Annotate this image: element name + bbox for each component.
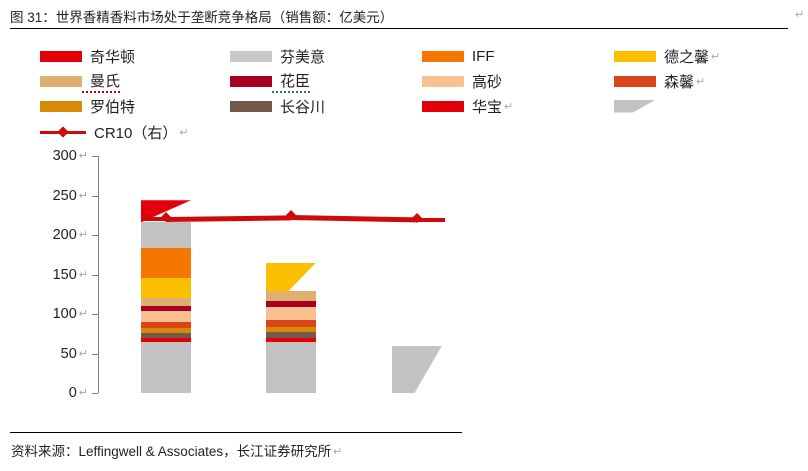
legend-label: 华宝 bbox=[464, 96, 502, 117]
color-swatch-icon bbox=[40, 76, 82, 87]
y-axis-tick-label: 100↵ bbox=[14, 306, 88, 322]
bar-segment[interactable] bbox=[266, 263, 316, 291]
legend-item-qihuadun[interactable]: 奇华顿 bbox=[40, 44, 135, 68]
plot-area bbox=[98, 156, 598, 393]
legend-label: 奇华顿 bbox=[82, 46, 135, 67]
y-axis-tick-label: 50↵ bbox=[14, 346, 88, 362]
bar-segment[interactable] bbox=[266, 301, 316, 307]
bar-segment[interactable] bbox=[392, 346, 442, 393]
cr10-line-segment bbox=[166, 215, 291, 221]
paragraph-mark-icon: ↵ bbox=[694, 75, 705, 88]
paragraph-mark-icon: ↵ bbox=[331, 446, 342, 458]
bar-segment[interactable] bbox=[266, 327, 316, 333]
bar-segment[interactable] bbox=[141, 278, 191, 299]
legend-row: 奇华顿 芬美意 IFF 德之馨 ↵ bbox=[40, 44, 780, 68]
stacked-bar[interactable] bbox=[141, 200, 191, 393]
legend-item-cr10[interactable]: CR10（右） ↵ bbox=[40, 120, 189, 144]
color-swatch-icon bbox=[230, 51, 272, 62]
legend-label: 高砂 bbox=[464, 71, 502, 92]
y-axis-tick-label: 300↵ bbox=[14, 148, 88, 164]
legend-item-fenmeiyi[interactable]: 芬美意 bbox=[230, 44, 325, 68]
bar-segment[interactable] bbox=[266, 291, 316, 300]
paragraph-mark-icon: ↵ bbox=[177, 126, 188, 139]
legend-item-huabao[interactable]: 华宝 ↵ bbox=[422, 94, 513, 118]
bar-segment[interactable] bbox=[266, 332, 316, 338]
bar-segment[interactable] bbox=[141, 248, 191, 278]
legend-item-changuchuan[interactable]: 长谷川 bbox=[230, 94, 325, 118]
legend-item-huachen[interactable]: 花臣 bbox=[230, 69, 310, 93]
bar-segment[interactable] bbox=[141, 333, 191, 338]
legend-label: 罗伯特 bbox=[82, 96, 135, 117]
line-marker-icon bbox=[40, 126, 86, 138]
cr10-line-segment bbox=[291, 215, 417, 222]
title-divider bbox=[10, 28, 788, 29]
legend-label: 芬美意 bbox=[272, 46, 325, 67]
chart-canvas: 0↵50↵100↵150↵200↵250↵300↵ bbox=[0, 146, 808, 406]
bar-segment[interactable] bbox=[141, 342, 191, 393]
legend-item-dezhixin[interactable]: 德之馨 ↵ bbox=[614, 44, 720, 68]
stacked-bar[interactable] bbox=[392, 346, 442, 393]
color-swatch-icon bbox=[230, 76, 272, 87]
legend-row: CR10（右） ↵ bbox=[40, 120, 780, 144]
y-axis-tick-label: 250↵ bbox=[14, 188, 88, 204]
stacked-bar[interactable] bbox=[266, 263, 316, 393]
legend-label: 长谷川 bbox=[272, 96, 325, 117]
bar-segment[interactable] bbox=[141, 222, 191, 247]
color-swatch-icon bbox=[422, 76, 464, 87]
legend-label: 花臣 bbox=[272, 70, 310, 93]
figure-title-block: 图 31：世界香精香料市场处于垄断竞争格局（销售额：亿美元） ↵ bbox=[0, 0, 808, 30]
y-axis-tick-label: 200↵ bbox=[14, 227, 88, 243]
bar-segment[interactable] bbox=[141, 338, 191, 342]
legend-row: 曼氏 花臣 高砂 森馨 ↵ bbox=[40, 69, 780, 93]
bar-segment[interactable] bbox=[141, 322, 191, 328]
color-swatch-icon bbox=[230, 101, 272, 112]
color-swatch-icon bbox=[40, 51, 82, 62]
legend-label: CR10（右） bbox=[86, 122, 177, 143]
bar-segment[interactable] bbox=[141, 311, 191, 322]
bar-segment[interactable] bbox=[266, 320, 316, 327]
color-swatch-icon bbox=[40, 101, 82, 112]
legend-label: IFF bbox=[464, 48, 495, 65]
color-swatch-icon bbox=[422, 101, 464, 112]
color-swatch-icon bbox=[422, 51, 464, 62]
bar-segment[interactable] bbox=[141, 306, 191, 311]
source-note: 资料来源：Leffingwell & Associates，长江证券研究所↵ bbox=[11, 440, 342, 460]
paragraph-mark-icon: ↵ bbox=[795, 8, 804, 21]
trapezoid-swatch-icon bbox=[614, 100, 656, 113]
legend-label: 德之馨 bbox=[656, 46, 709, 67]
y-axis-tick-label: 0↵ bbox=[14, 385, 88, 401]
bar-segment[interactable] bbox=[266, 342, 316, 393]
legend-item-manshi[interactable]: 曼氏 bbox=[40, 69, 120, 93]
legend-row: 罗伯特 长谷川 华宝 ↵ bbox=[40, 94, 780, 118]
legend-item-other[interactable] bbox=[614, 94, 664, 118]
legend-item-gaosha[interactable]: 高砂 bbox=[422, 69, 502, 93]
color-swatch-icon bbox=[614, 51, 656, 62]
color-swatch-icon bbox=[614, 76, 656, 87]
bar-segment[interactable] bbox=[266, 338, 316, 342]
y-axis-tick-label: 150↵ bbox=[14, 267, 88, 283]
bar-segment[interactable] bbox=[266, 307, 316, 320]
legend-item-luobote[interactable]: 罗伯特 bbox=[40, 94, 135, 118]
legend-item-iff[interactable]: IFF bbox=[422, 44, 495, 68]
paragraph-mark-icon: ↵ bbox=[709, 50, 720, 63]
legend-item-senxin[interactable]: 森馨 ↵ bbox=[614, 69, 705, 93]
page-title: 图 31：世界香精香料市场处于垄断竞争格局（销售额：亿美元） bbox=[10, 6, 393, 26]
legend-label: 森馨 bbox=[656, 71, 694, 92]
bar-segment[interactable] bbox=[141, 328, 191, 333]
chart-legend: 奇华顿 芬美意 IFF 德之馨 ↵ 曼氏 花臣 高砂 bbox=[40, 44, 780, 142]
paragraph-mark-icon: ↵ bbox=[502, 100, 513, 113]
source-note-text: 资料来源：Leffingwell & Associates，长江证券研究所 bbox=[11, 444, 331, 459]
bar-segment[interactable] bbox=[141, 298, 191, 306]
y-axis-tick bbox=[92, 393, 98, 394]
y-axis-labels: 0↵50↵100↵150↵200↵250↵300↵ bbox=[0, 146, 88, 406]
footer-divider bbox=[10, 432, 462, 433]
legend-label: 曼氏 bbox=[82, 70, 120, 93]
